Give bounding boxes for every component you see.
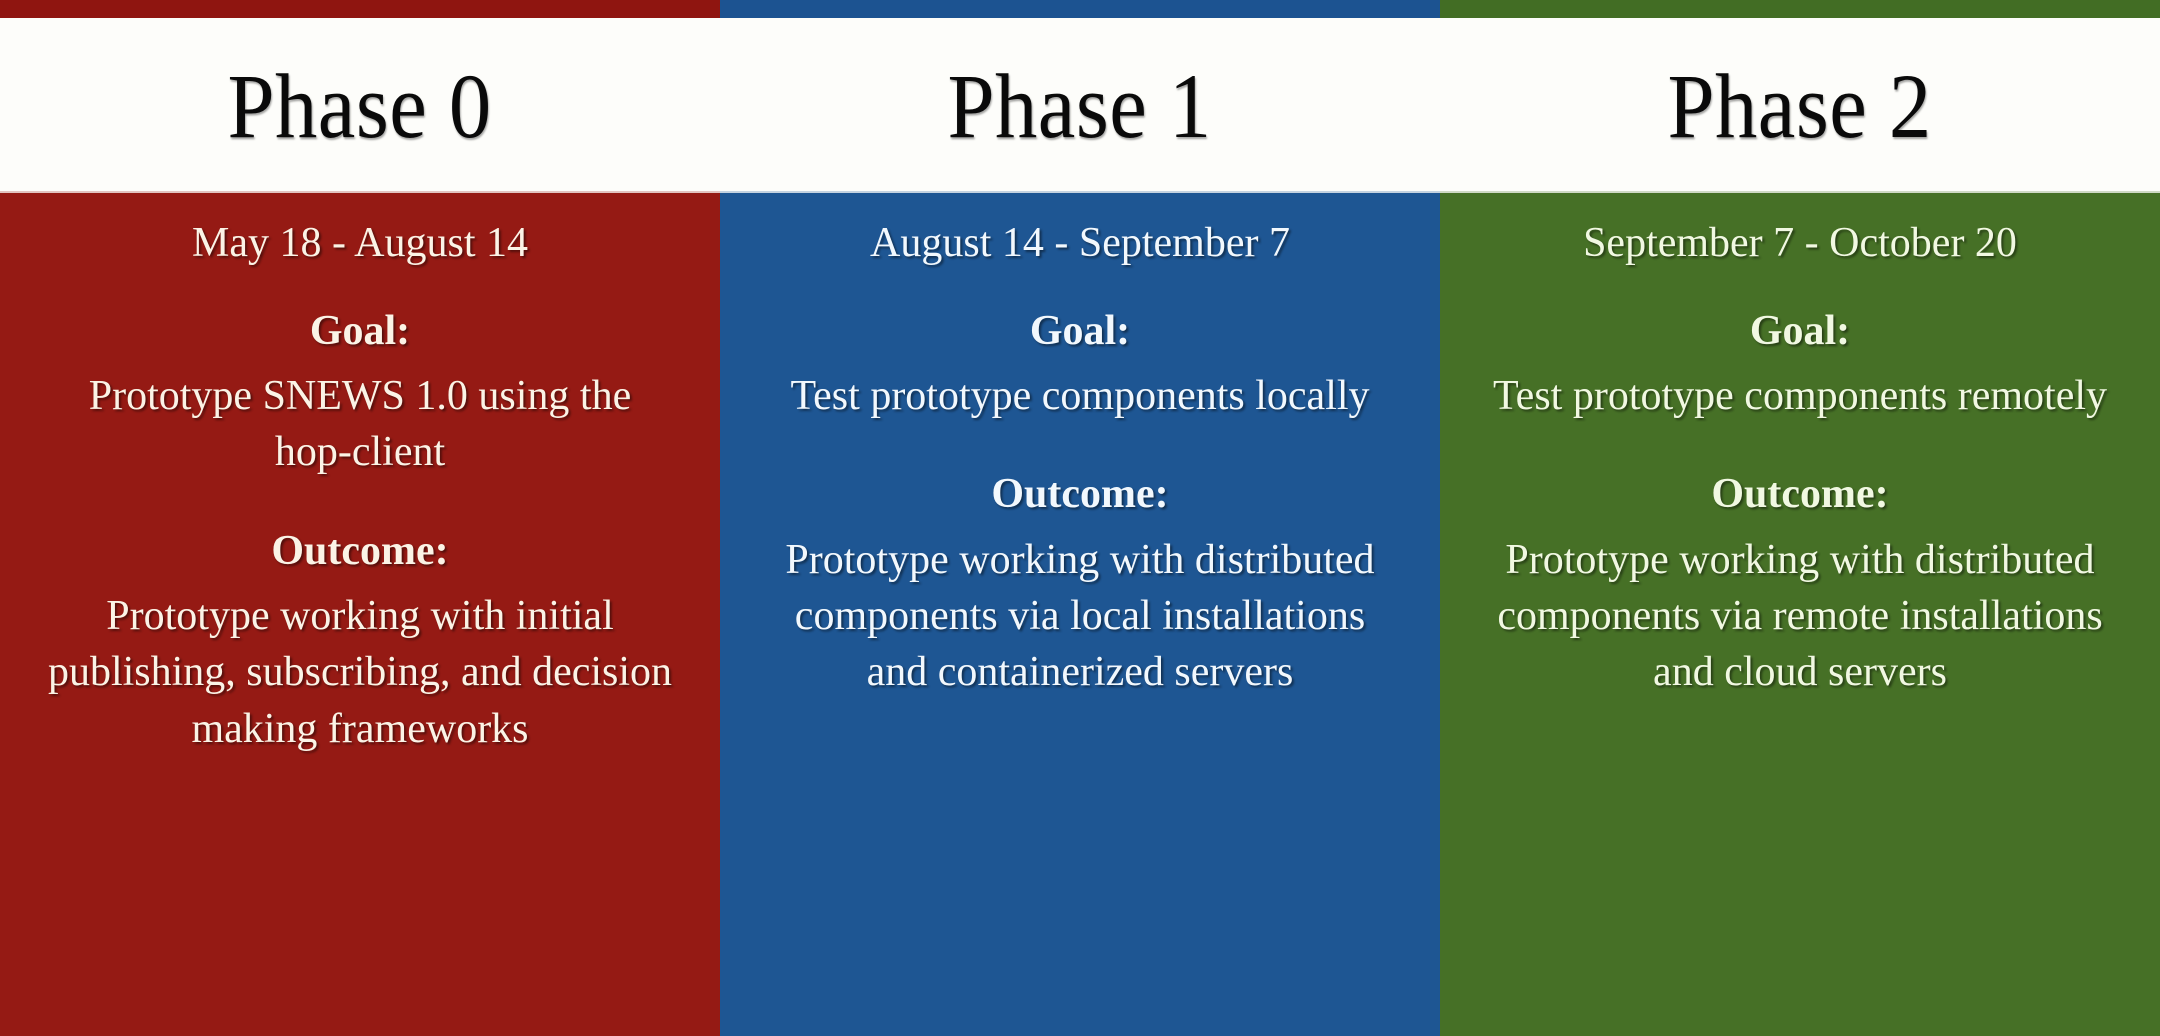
phase-date-range-1: August 14 - September 7 [870, 219, 1290, 269]
phase-title-0: Phase 0 [228, 60, 492, 152]
phase-date-range-0: May 18 - August 14 [192, 219, 528, 269]
phase-outcome-label-2: Outcome: [1711, 470, 1888, 520]
phase-body-2: September 7 - October 20 Goal: Test prot… [1440, 193, 2160, 1036]
phase-date-range-2: September 7 - October 20 [1583, 219, 2017, 269]
phase-outcome-text-2: Prototype working with distributed compo… [1487, 532, 2113, 701]
phase-title-band-2: Phase 2 [1440, 18, 2160, 193]
phase-goal-text-2: Test prototype components remotely [1493, 368, 2107, 424]
phase-outcome-label-1: Outcome: [991, 470, 1168, 520]
phase-title-2: Phase 2 [1668, 60, 1932, 152]
phase-accent-strip-1 [720, 0, 1440, 18]
phase-body-0: May 18 - August 14 Goal: Prototype SNEWS… [0, 193, 720, 1036]
phase-outcome-text-0: Prototype working with initial publishin… [47, 588, 673, 757]
phase-title-band-1: Phase 1 [720, 18, 1440, 193]
phase-goal-label-0: Goal: [310, 307, 410, 357]
phase-accent-strip-2 [1440, 0, 2160, 18]
phase-body-1: August 14 - September 7 Goal: Test proto… [720, 193, 1440, 1036]
phase-goal-text-0: Prototype SNEWS 1.0 using the hop-client [47, 368, 673, 481]
phase-outcome-label-0: Outcome: [271, 527, 448, 577]
phase-outcome-text-1: Prototype working with distributed compo… [767, 532, 1393, 701]
phase-accent-strip-0 [0, 0, 720, 18]
phase-column-1: Phase 1 August 14 - September 7 Goal: Te… [720, 0, 1440, 1036]
phase-goal-label-1: Goal: [1030, 307, 1130, 357]
phase-goal-text-1: Test prototype components locally [790, 368, 1369, 424]
phase-column-2: Phase 2 September 7 - October 20 Goal: T… [1440, 0, 2160, 1036]
phase-title-1: Phase 1 [948, 60, 1212, 152]
phase-title-band-0: Phase 0 [0, 18, 720, 193]
phase-column-0: Phase 0 May 18 - August 14 Goal: Prototy… [0, 0, 720, 1036]
phase-goal-label-2: Goal: [1750, 307, 1850, 357]
phase-timeline-board: Phase 0 May 18 - August 14 Goal: Prototy… [0, 0, 2160, 1036]
